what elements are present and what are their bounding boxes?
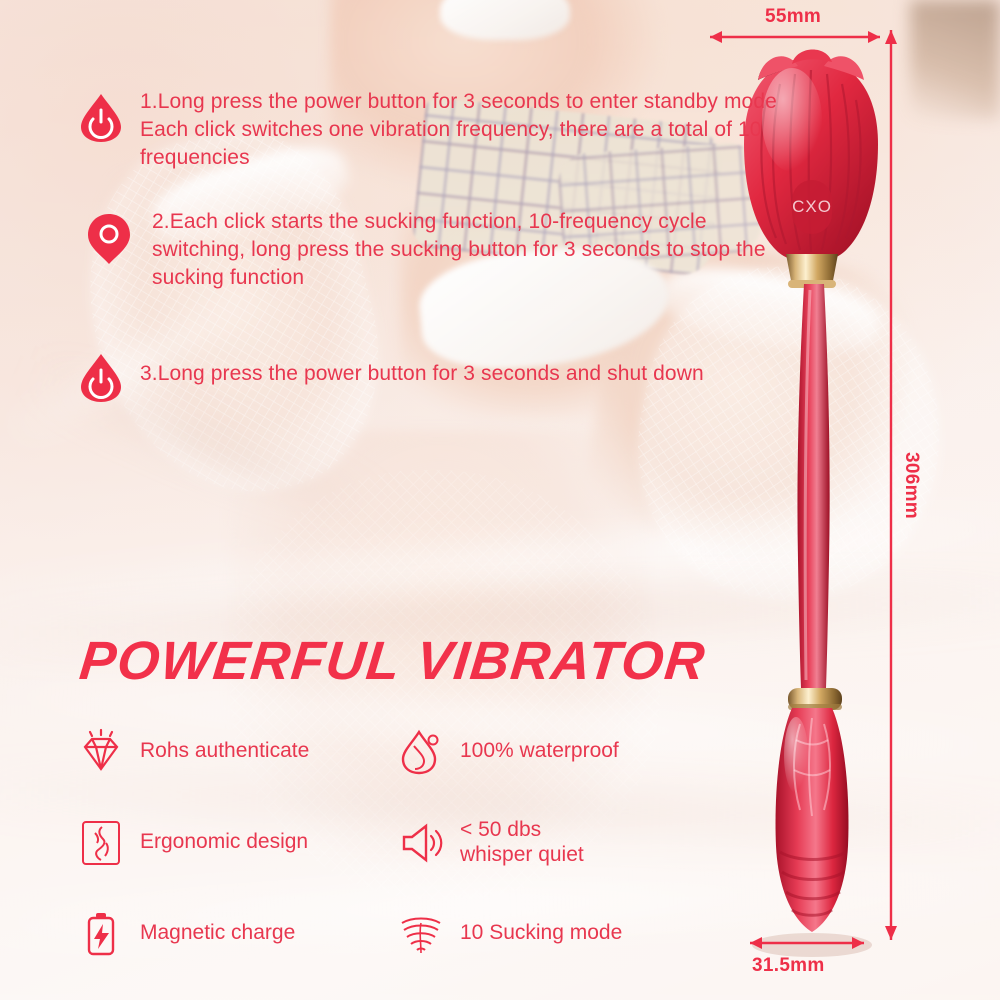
instruction-text-3: 3.Long press the power button for 3 seco… (140, 348, 778, 388)
dim-width-top (700, 22, 890, 52)
dim-height-total (876, 20, 906, 950)
instruction-text-2: 2.Each click starts the sucking function… (152, 208, 778, 292)
instruction-list: 1.Long press the power button for 3 seco… (78, 88, 778, 452)
instruction-item-2: 2.Each click starts the sucking function… (78, 208, 778, 292)
dim-width-bottom (742, 930, 872, 956)
dim-label-width-bottom: 31.5mm (752, 955, 825, 977)
suction-pin-icon (86, 212, 132, 264)
instruction-text-1: 1.Long press the power button for 3 seco… (140, 88, 778, 172)
instruction-item-3: 3.Long press the power button for 3 seco… (78, 348, 778, 426)
instruction-item-1: 1.Long press the power button for 3 seco… (78, 88, 778, 172)
power-drop-icon (78, 352, 124, 404)
power-drop-icon (78, 92, 124, 144)
